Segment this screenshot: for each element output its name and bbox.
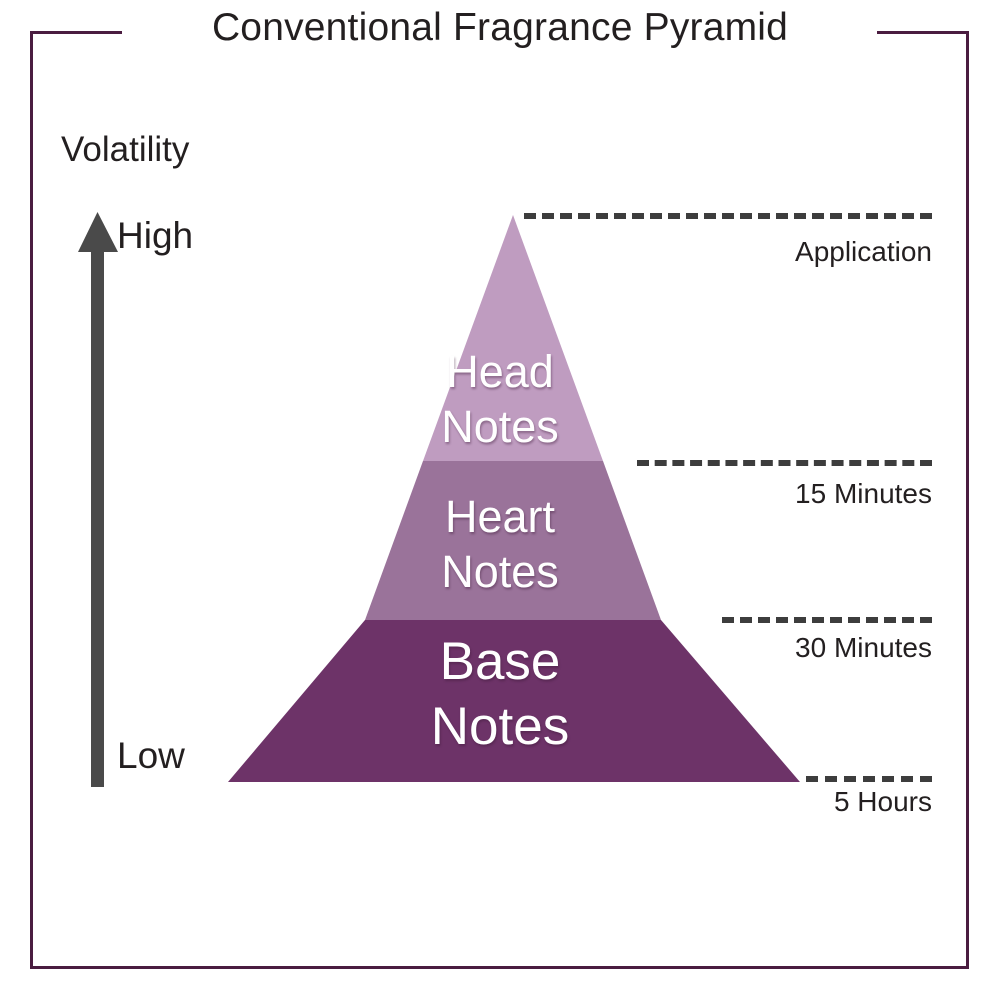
time-label-thirty-min: 30 Minutes bbox=[632, 632, 932, 664]
time-label-five-hours: 5 Hours bbox=[632, 786, 932, 818]
fragrance-pyramid-diagram: Conventional Fragrance Pyramid Volatilit… bbox=[0, 0, 1000, 1000]
leader-line-five-hours bbox=[806, 776, 932, 782]
leader-line-fifteen-min bbox=[637, 460, 932, 466]
pyramid-label-head: Head Notes bbox=[0, 345, 1000, 455]
time-label-application: Application bbox=[632, 236, 932, 268]
time-label-fifteen-min: 15 Minutes bbox=[632, 478, 932, 510]
leader-line-application bbox=[524, 213, 932, 219]
leader-line-thirty-min bbox=[722, 617, 932, 623]
